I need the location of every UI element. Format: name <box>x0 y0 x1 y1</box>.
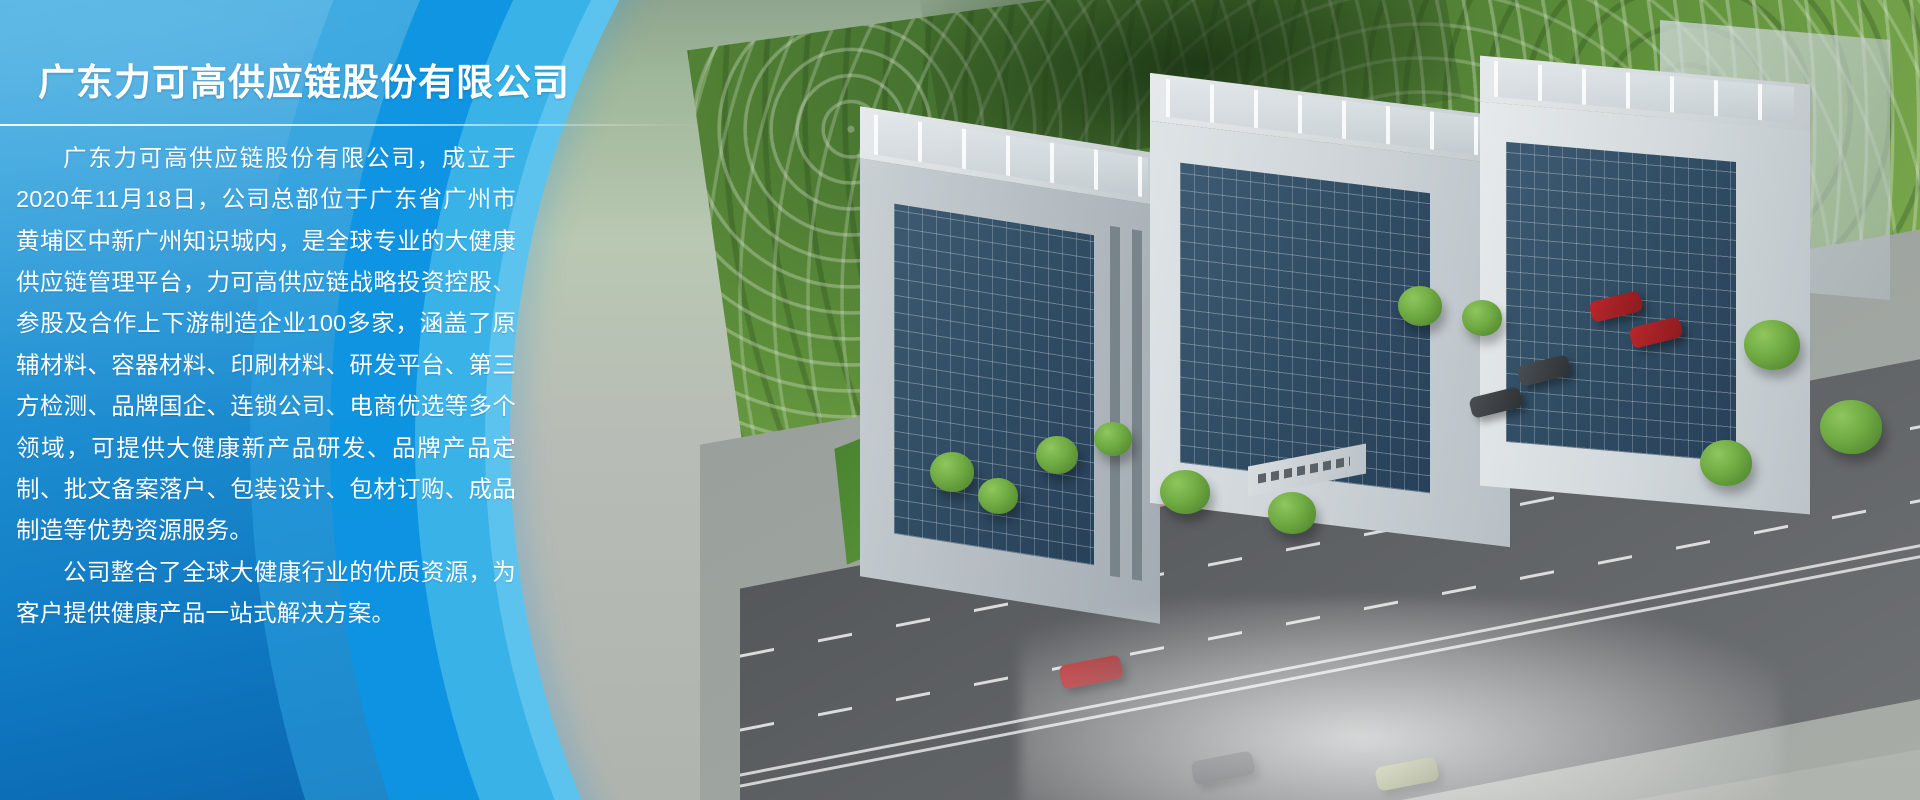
photo-tree <box>1700 440 1752 486</box>
photo-tree <box>978 478 1018 514</box>
title-divider <box>0 124 700 126</box>
photo-tree <box>1398 286 1442 326</box>
company-profile-banner: 广东力可高供应链股份有限公司 广东力可高供应链股份有限公司，成立于2020年11… <box>0 0 1920 800</box>
photo-tree <box>1268 492 1316 534</box>
photo-tree <box>1744 320 1800 370</box>
text-panel: 广东力可高供应链股份有限公司 广东力可高供应链股份有限公司，成立于2020年11… <box>0 0 620 800</box>
photo-tree <box>1094 422 1132 456</box>
photo-tree <box>1820 400 1882 454</box>
photo-tree <box>1160 470 1210 514</box>
photo-pilaster <box>1132 229 1142 581</box>
photo-office-tower-c <box>1480 56 1810 515</box>
photo-tree <box>930 452 974 492</box>
hero-photo-circle <box>510 0 1920 800</box>
page-title: 广东力可高供应链股份有限公司 <box>38 52 570 106</box>
hero-photo <box>510 0 1920 800</box>
photo-tree <box>1462 300 1502 336</box>
photo-pilaster <box>1110 226 1120 578</box>
photo-office-tower-a <box>860 106 1160 624</box>
photo-tree <box>1036 436 1078 474</box>
paragraph-company-overview: 广东力可高供应链股份有限公司，成立于2020年11月18日，公司总部位于广东省广… <box>16 138 516 552</box>
company-description: 广东力可高供应链股份有限公司，成立于2020年11月18日，公司总部位于广东省广… <box>16 138 516 634</box>
photo-haze-overlay <box>1020 600 1780 800</box>
paragraph-company-mission: 公司整合了全球大健康行业的优质资源，为客户提供健康产品一站式解决方案。 <box>16 552 516 635</box>
photo-glass-curtain-wall <box>1180 163 1430 494</box>
